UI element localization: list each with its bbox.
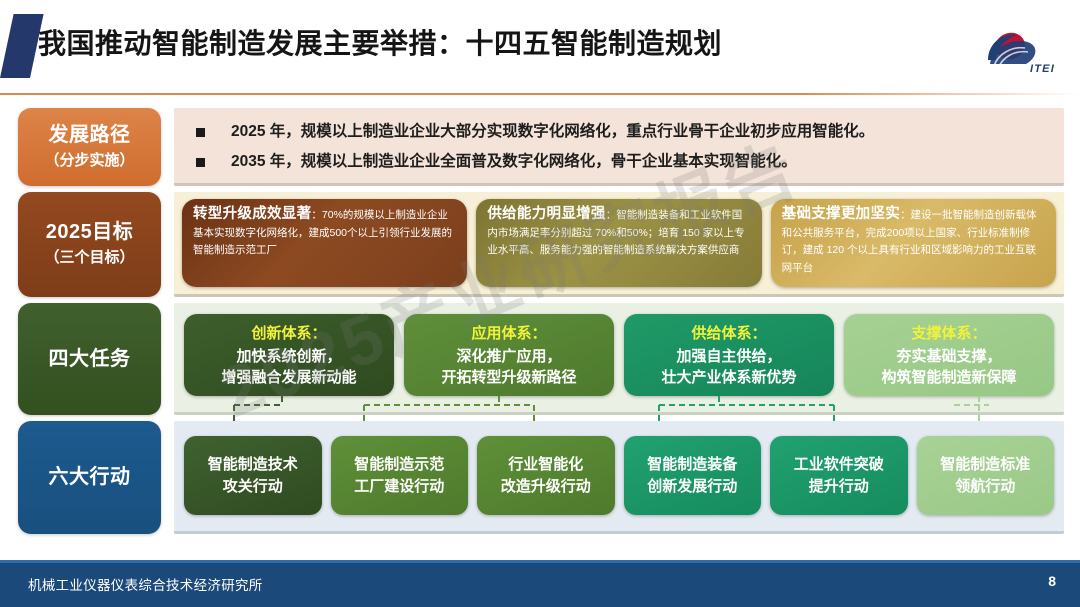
action-card[interactable]: 工业软件突破 提升行动 <box>770 436 908 515</box>
action-card-line2: 提升行动 <box>794 476 884 498</box>
panel-2025-goals: 转型升级成效显著：70%的规模以上制造业企业基本实现数字化网络化，建成500个以… <box>174 192 1064 297</box>
square-bullet-icon <box>196 158 205 167</box>
slide-canvas: 我国推动智能制造发展主要举措：十四五智能制造规划 ITEI 发展路径 （分步实施… <box>0 0 1080 607</box>
action-card[interactable]: 智能制造装备 创新发展行动 <box>624 436 762 515</box>
square-bullet-icon <box>196 128 205 137</box>
task-card[interactable]: 供给体系： 加强自主供给， 壮大产业体系新优势 <box>624 314 834 396</box>
row-label-main: 发展路径 <box>49 122 131 149</box>
action-card[interactable]: 智能制造标准 领航行动 <box>917 436 1055 515</box>
task-card-line2: 构筑智能制造新保障 <box>881 367 1016 388</box>
footer-organization: 机械工业仪器仪表综合技术经济研究所 <box>28 574 263 594</box>
action-card[interactable]: 智能制造示范 工厂建设行动 <box>331 436 469 515</box>
goal-card[interactable]: 转型升级成效显著：70%的规模以上制造业企业基本实现数字化网络化，建成500个以… <box>182 199 467 287</box>
task-card-line2: 壮大产业体系新优势 <box>661 367 796 388</box>
task-card-title: 支撑体系： <box>911 323 986 345</box>
action-card-line1: 智能制造示范 <box>354 454 444 476</box>
title-underline <box>0 93 1080 95</box>
task-card-line2: 增强融合发展新动能 <box>221 367 356 388</box>
task-card[interactable]: 支撑体系： 夯实基础支撑， 构筑智能制造新保障 <box>844 314 1054 396</box>
row-label-sub: （分步实施） <box>44 149 134 173</box>
row-2025-goals: 2025目标 （三个目标） 转型升级成效显著：70%的规模以上制造业企业基本实现… <box>0 192 1080 297</box>
row-six-actions: 六大行动 智能制造技术 攻关行动 智能制造示范 工厂建设行动 <box>0 421 1080 534</box>
panel-four-tasks: 创新体系： 加快系统创新， 增强融合发展新动能 应用体系： 深化推广应用， 开拓… <box>174 303 1064 415</box>
task-card-line1: 夯实基础支撑， <box>896 346 1001 367</box>
task-card-line2: 开拓转型升级新路径 <box>441 367 576 388</box>
panel-six-actions: 智能制造技术 攻关行动 智能制造示范 工厂建设行动 行业智能化 改造升级行动 <box>174 421 1064 534</box>
goal-card[interactable]: 基础支撑更加坚实：建设一批智能制造创新载体和公共服务平台，完成200项以上国家、… <box>771 199 1056 287</box>
task-card[interactable]: 创新体系： 加快系统创新， 增强融合发展新动能 <box>184 314 394 396</box>
action-card-line2: 改造升级行动 <box>501 476 591 498</box>
row-label-main: 六大行动 <box>49 464 131 491</box>
page-title: 我国推动智能制造发展主要举措：十四五智能制造规划 <box>38 22 722 66</box>
title-bar: 我国推动智能制造发展主要举措：十四五智能制造规划 ITEI <box>0 0 1080 92</box>
footer-top-line <box>0 560 1080 563</box>
task-card-line1: 加强自主供给， <box>676 346 781 367</box>
action-card-line2: 工厂建设行动 <box>354 476 444 498</box>
task-card-title: 供给体系： <box>691 323 766 345</box>
goal-card-title: 基础支撑更加坚实 <box>782 206 900 222</box>
action-card-line2: 领航行动 <box>940 476 1030 498</box>
goal-card[interactable]: 供给能力明显增强：智能制造装备和工业软件国内市场满足率分别超过 70%和50%；… <box>476 199 761 287</box>
bullet-text: 2025 年，规模以上制造业企业大部分实现数字化网络化，重点行业骨干企业初步应用… <box>231 117 874 147</box>
task-card-title: 创新体系： <box>251 323 326 345</box>
bullet-item: 2035 年，规模以上制造业企业全面普及数字化网络化，骨干企业基本实现智能化。 <box>188 147 1050 177</box>
action-card-line1: 智能制造标准 <box>940 454 1030 476</box>
action-card-line1: 智能制造装备 <box>647 454 737 476</box>
bullet-text: 2035 年，规模以上制造业企业全面普及数字化网络化，骨干企业基本实现智能化。 <box>231 147 797 177</box>
task-card-line1: 加快系统创新， <box>236 346 341 367</box>
task-card-title: 应用体系： <box>471 323 546 345</box>
action-card-line1: 行业智能化 <box>501 454 591 476</box>
row-label-four-tasks[interactable]: 四大任务 <box>18 303 161 415</box>
row-label-2025-goals[interactable]: 2025目标 （三个目标） <box>18 192 161 297</box>
action-card-line1: 智能制造技术 <box>208 454 298 476</box>
row-label-main: 2025目标 <box>46 219 134 246</box>
task-card-line1: 深化推广应用， <box>456 346 561 367</box>
content-area: 发展路径 （分步实施） 2025 年，规模以上制造业企业大部分实现数字化网络化，… <box>0 96 1080 548</box>
footer-bar: 机械工业仪器仪表综合技术经济研究所 8 <box>0 560 1080 607</box>
row-label-main: 四大任务 <box>49 346 131 373</box>
footer-page-number: 8 <box>1048 573 1056 589</box>
panel-development-path: 2025 年，规模以上制造业企业大部分实现数字化网络化，重点行业骨干企业初步应用… <box>174 108 1064 186</box>
itei-logo: ITEI <box>978 26 1054 82</box>
action-card[interactable]: 智能制造技术 攻关行动 <box>184 436 322 515</box>
row-label-sub: （三个目标） <box>44 246 134 270</box>
row-label-development-path[interactable]: 发展路径 （分步实施） <box>18 108 161 186</box>
action-card-line2: 创新发展行动 <box>647 476 737 498</box>
row-four-tasks: 四大任务 创新体系： 加快系统创新， 增强融合发展新动能 应用体系： 深化推广应… <box>0 303 1080 415</box>
logo-text: ITEI <box>1030 63 1054 75</box>
row-development-path: 发展路径 （分步实施） 2025 年，规模以上制造业企业大部分实现数字化网络化，… <box>0 108 1080 186</box>
goal-card-title: 供给能力明显增强 <box>487 206 605 222</box>
task-card[interactable]: 应用体系： 深化推广应用， 开拓转型升级新路径 <box>404 314 614 396</box>
action-card[interactable]: 行业智能化 改造升级行动 <box>477 436 615 515</box>
bullet-item: 2025 年，规模以上制造业企业大部分实现数字化网络化，重点行业骨干企业初步应用… <box>188 117 1050 147</box>
goal-card-title: 转型升级成效显著 <box>193 206 311 222</box>
row-label-six-actions[interactable]: 六大行动 <box>18 421 161 534</box>
action-card-line1: 工业软件突破 <box>794 454 884 476</box>
action-card-line2: 攻关行动 <box>208 476 298 498</box>
